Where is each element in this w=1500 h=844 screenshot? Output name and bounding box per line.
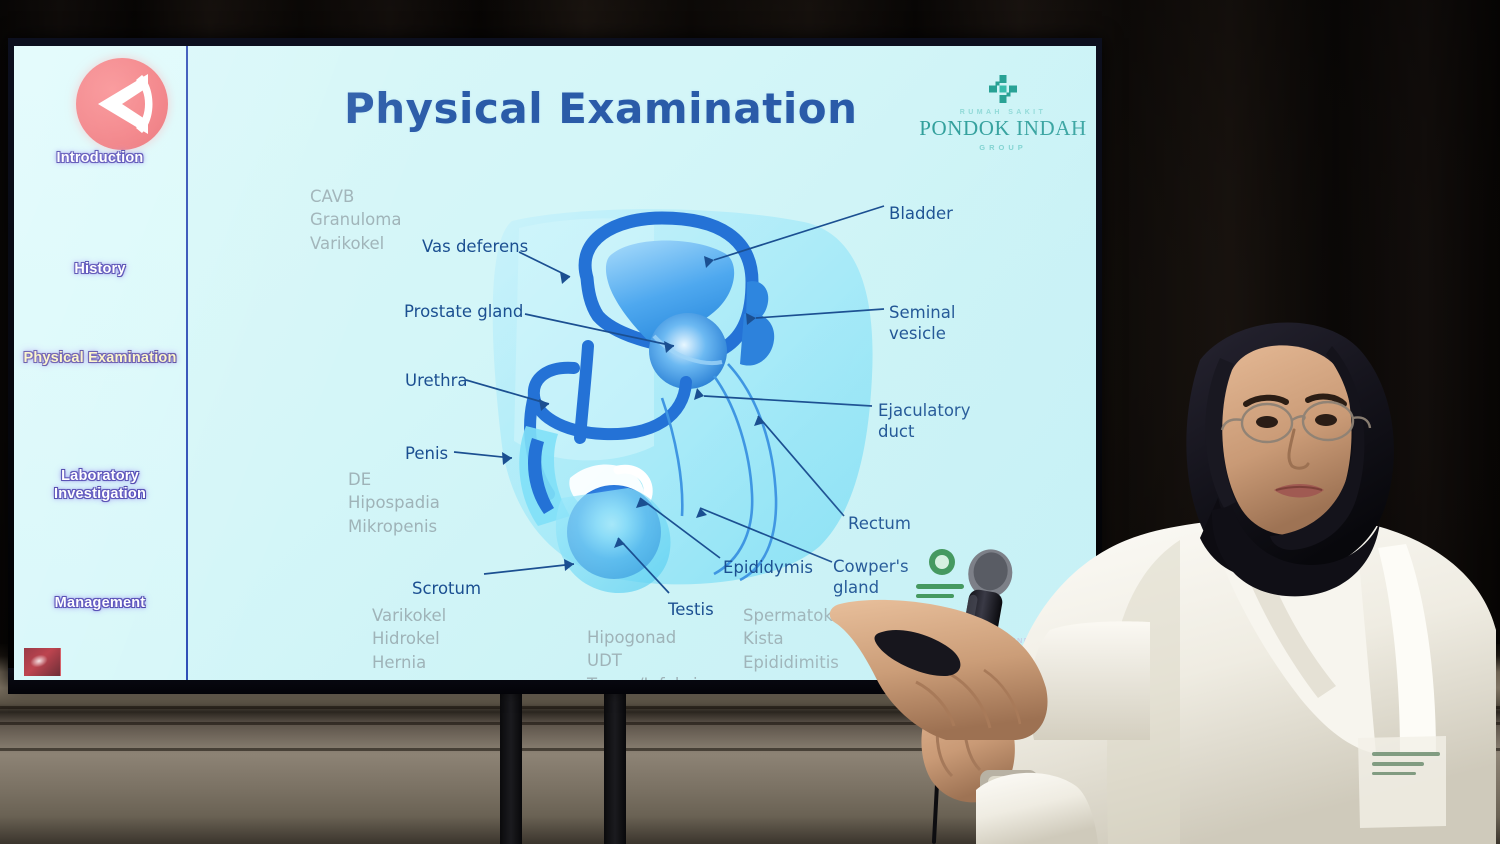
note-lower-left: Varikokel Hidrokel Hernia (372, 604, 446, 674)
note-lower-center: Hipogonad UDT Tumor/Infeksi (587, 626, 698, 680)
label-scrotum: Scrotum (412, 578, 481, 599)
label-prostate-gland: Prostate gland (404, 301, 523, 322)
label-epididymis: Epididymis (723, 557, 813, 578)
tv-stand-leg-right (604, 686, 626, 844)
presenter-pointing-hand (820, 570, 1150, 740)
label-bladder: Bladder (889, 203, 953, 224)
label-urethra: Urethra (405, 370, 467, 391)
tv-stand-leg-left (500, 686, 522, 844)
note-mid-left: DE Hipospadia Mikropenis (348, 468, 440, 538)
note-upper-left: CAVB Granuloma Varikokel (310, 185, 401, 255)
label-testis: Testis (668, 599, 714, 620)
label-vas-deferens: Vas deferens (422, 236, 528, 257)
label-penis: Penis (405, 443, 448, 464)
screenshot-stage: Introduction History Physical Examinatio… (0, 0, 1500, 844)
